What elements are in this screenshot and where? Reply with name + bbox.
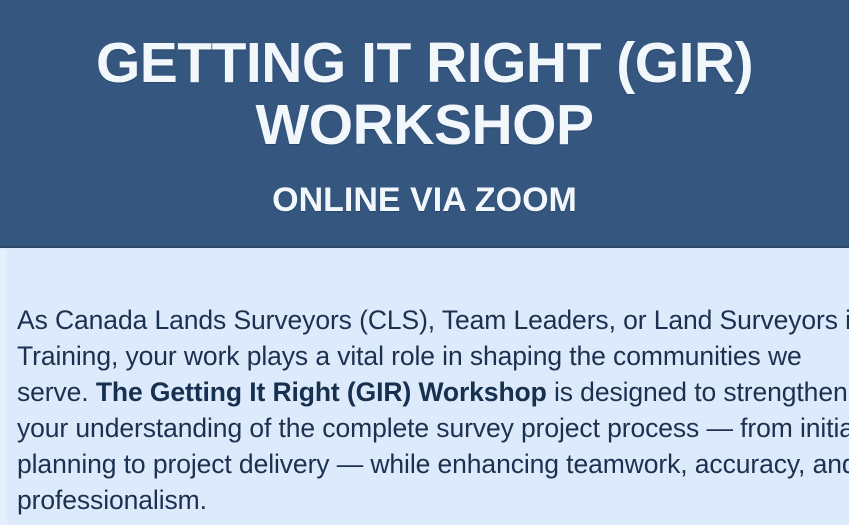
description-workshop-name-emphasis: The Getting It Right (GIR) Workshop — [96, 377, 547, 407]
header-banner: GETTING IT RIGHT (GIR) WORKSHOP ONLINE V… — [0, 0, 849, 248]
panel-left-edge-accent — [0, 250, 7, 525]
header-subtitle: ONLINE VIA ZOOM — [0, 180, 849, 220]
page-title: GETTING IT RIGHT (GIR) WORKSHOP — [0, 32, 849, 156]
workshop-poster: GETTING IT RIGHT (GIR) WORKSHOP ONLINE V… — [0, 0, 849, 525]
body-panel: As Canada Lands Surveyors (CLS), Team Le… — [0, 250, 849, 525]
description-paragraph: As Canada Lands Surveyors (CLS), Team Le… — [17, 302, 849, 518]
